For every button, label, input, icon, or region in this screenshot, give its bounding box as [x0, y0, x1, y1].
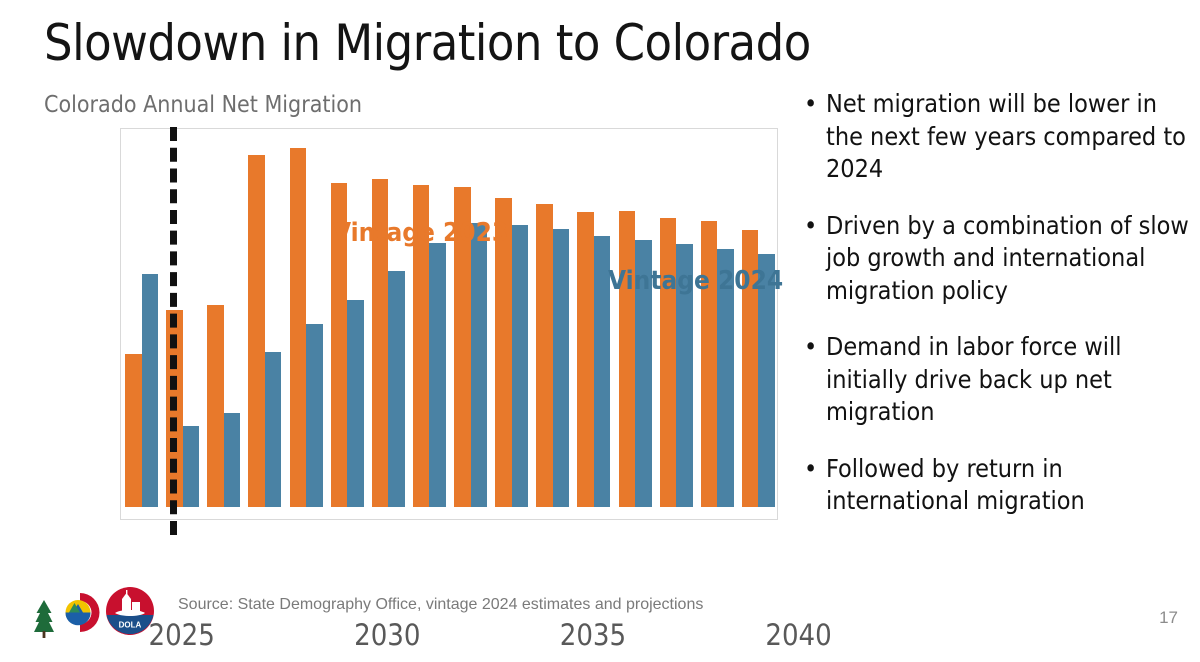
bar-vintage-2023-2036 — [619, 211, 635, 507]
bullet-text: Net migration will be lower in the next … — [826, 89, 1186, 183]
bullet-item: Net migration will be lower in the next … — [800, 88, 1192, 186]
x-axis-tick-label: 2040 — [765, 618, 831, 652]
bar-vintage-2024-2033 — [512, 225, 528, 507]
legend-item-vintage-2024: Vintage 2024 — [608, 266, 783, 296]
chart-container: Colorado Annual Net Migration 020,00040,… — [0, 92, 790, 572]
x-axis-tick-label: 2035 — [560, 618, 626, 652]
bar-vintage-2023-2027 — [248, 155, 264, 507]
bar-vintage-2024-2031 — [429, 243, 445, 507]
bar-vintage-2024-2026 — [224, 413, 240, 507]
projection-divider-line — [170, 127, 177, 535]
bar-vintage-2024-2029 — [347, 300, 363, 507]
bars-layer — [121, 129, 777, 519]
bar-vintage-2023-2034 — [536, 204, 552, 507]
bar-vintage-2024-2032 — [471, 223, 487, 507]
bullet-list: Net migration will be lower in the next … — [800, 88, 1192, 542]
bar-vintage-2024-2024 — [142, 274, 158, 507]
dola-logo: DOLA — [106, 587, 154, 635]
bullet-text: Followed by return in international migr… — [826, 454, 1085, 516]
bullet-text: Demand in labor force will initially dri… — [826, 332, 1122, 426]
bar-vintage-2023-2026 — [207, 305, 223, 507]
footer-logos: DOLA — [30, 582, 160, 640]
bar-vintage-2024-2025 — [183, 426, 199, 507]
bullet-item: Demand in labor force will initially dri… — [800, 331, 1192, 429]
page-number: 17 — [1159, 608, 1178, 628]
bar-vintage-2024-2028 — [306, 324, 322, 507]
dola-label: DOLA — [119, 621, 142, 630]
bar-vintage-2023-2037 — [660, 218, 676, 507]
bar-vintage-2024-2030 — [388, 271, 404, 507]
page-title: Slowdown in Migration to Colorado — [44, 14, 811, 72]
source-note: Source: State Demography Office, vintage… — [178, 596, 703, 614]
bullet-text: Driven by a combination of slow job grow… — [826, 211, 1189, 305]
bar-vintage-2024-2027 — [265, 352, 281, 507]
logo-group: DOLA — [30, 582, 160, 640]
bar-vintage-2023-2038 — [701, 221, 717, 507]
bar-vintage-2023-2024 — [125, 354, 141, 507]
bar-vintage-2023-2028 — [290, 148, 306, 507]
legend-item-vintage-2023: Vintage 2023 — [333, 218, 508, 248]
colorado-state-logo — [34, 593, 100, 638]
bar-vintage-2024-2034 — [553, 229, 569, 507]
bullet-item: Followed by return in international migr… — [800, 453, 1192, 518]
plot-area — [120, 128, 778, 520]
x-axis-tick-label: 2030 — [354, 618, 420, 652]
bar-vintage-2023-2035 — [577, 212, 593, 507]
bullet-item: Driven by a combination of slow job grow… — [800, 210, 1192, 308]
